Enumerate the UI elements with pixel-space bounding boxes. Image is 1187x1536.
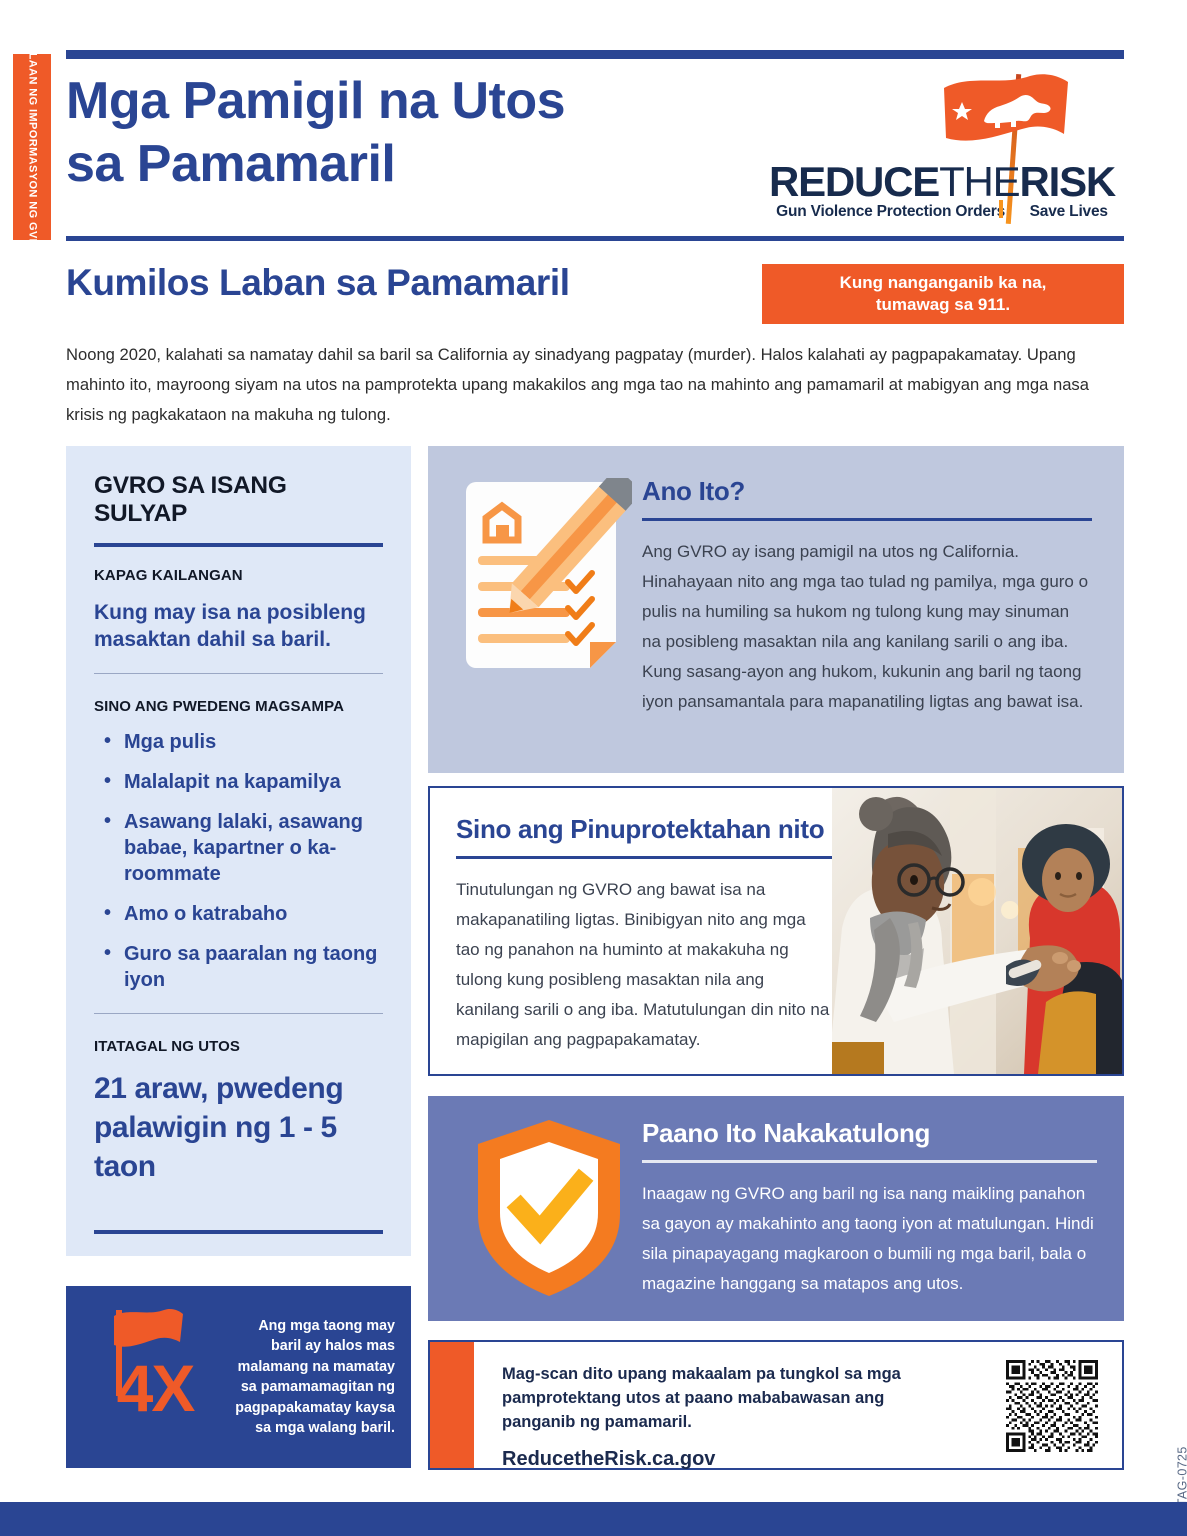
left-panel-bottom-rule — [94, 1230, 383, 1234]
logo-word-the: THE — [939, 158, 1019, 205]
side-tab-text: TALAAN NG IMPORMASYON NG GVRO — [26, 38, 39, 256]
list-item: Malalapit na kapamilya — [94, 769, 383, 795]
who-it-protects-heading: Sino ang Pinuprotektahan nito — [456, 814, 832, 845]
header-top-rule — [66, 50, 1124, 59]
scan-qr-card[interactable]: Mag-scan dito upang makaalam pa tungkol … — [428, 1340, 1124, 1470]
infographic-page: TALAAN NG IMPORMASYON NG GVRO Mga Pamigi… — [0, 0, 1187, 1536]
who-it-protects-rule — [456, 856, 832, 859]
emergency-911-callout: Kung nanganganib ka na, tumawag sa 911. — [762, 264, 1124, 324]
logo-word-risk: RISK — [1020, 158, 1116, 205]
list-item: Guro sa paaralan ng taong iyon — [94, 941, 383, 993]
website-url[interactable]: ReducetheRisk.ca.gov — [502, 1448, 1006, 1471]
how-it-helps-rule — [642, 1160, 1097, 1163]
logo-tagline-left: Gun Violence Protection Orders — [776, 203, 1005, 220]
shield-checkmark-icon — [474, 1118, 624, 1298]
what-is-it-rule — [642, 518, 1092, 521]
checklist-document-icon — [456, 478, 632, 678]
how-it-helps-body: Inaagaw ng GVRO ang baril ng isa nang ma… — [642, 1179, 1097, 1299]
statistic-4x-box: 4X Ang mga taong may baril ay halos mas … — [66, 1286, 411, 1468]
who-it-protects-text-block: Sino ang Pinuprotektahan nito Tinutulung… — [456, 814, 832, 1055]
page-title-line1: Mga Pamigil na Utos — [66, 72, 565, 130]
how-it-helps-text-block: Paano Ito Nakakatulong Inaagaw ng GVRO a… — [642, 1118, 1097, 1299]
who-it-protects-body: Tinutulungan ng GVRO ang bawat isa na ma… — [456, 875, 832, 1055]
reduce-the-risk-logo: REDUCETHERISK Gun Violence Protection Or… — [758, 72, 1126, 224]
photo-two-women-talking — [832, 788, 1122, 1074]
logo-wordmark: REDUCETHERISK — [758, 158, 1126, 206]
what-is-it-text-block: Ano Ito? Ang GVRO ay isang pamigil na ut… — [642, 476, 1092, 717]
statistic-description: Ang mga taong may baril ay halos mas mal… — [226, 1316, 411, 1439]
stat-flag-icon — [112, 1308, 184, 1356]
callout-911-line2: tumawag sa 911. — [876, 295, 1010, 314]
section-subtitle: Kumilos Laban sa Pamamaril — [66, 262, 570, 304]
who-it-protects-card: Sino ang Pinuprotektahan nito Tinutulung… — [428, 786, 1124, 1076]
qr-code[interactable] — [1006, 1360, 1098, 1452]
left-panel-divider-2 — [94, 1013, 383, 1014]
what-is-it-heading: Ano Ito? — [642, 476, 1092, 507]
logo-divider-bar — [999, 200, 1003, 218]
who-can-file-list: Mga pulis Malalapit na kapamilya Asawang… — [94, 729, 383, 993]
callout-911-line1: Kung nanganganib ka na, — [840, 273, 1047, 292]
logo-tagline-right: Save Lives — [1030, 203, 1108, 220]
left-panel-title: GVRO SA ISANG SULYAP — [94, 472, 383, 528]
california-bear-flag-icon — [940, 72, 1070, 158]
scan-card-body: Mag-scan dito upang makaalam pa tungkol … — [474, 1342, 1006, 1468]
header-bottom-rule — [66, 236, 1124, 241]
left-panel-duration-value: 21 araw, pwedeng palawigin ng 1 - 5 taon — [94, 1069, 383, 1186]
left-panel-kicker-duration: ITATAGAL NG UTOS — [94, 1038, 383, 1055]
side-tab-label-strip: TALAAN NG IMPORMASYON NG GVRO — [13, 54, 51, 240]
left-panel-kicker-who-can-file: SINO ANG PWEDENG MAGSAMPA — [94, 698, 383, 715]
left-panel-kicker-when: KAPAG KAILANGAN — [94, 567, 383, 584]
left-panel-when-value: Kung may isa na posibleng masaktan dahil… — [94, 599, 383, 653]
page-title-line2: sa Pamamaril — [66, 135, 395, 193]
footer-bar — [0, 1502, 1187, 1536]
list-item: Mga pulis — [94, 729, 383, 755]
how-it-helps-card: Paano Ito Nakakatulong Inaagaw ng GVRO a… — [428, 1096, 1124, 1321]
scan-card-accent-bar — [430, 1342, 474, 1468]
statistic-number: 4X — [80, 1350, 230, 1426]
what-is-it-body: Ang GVRO ay isang pamigil na utos ng Cal… — [642, 537, 1092, 717]
logo-word-reduce: REDUCE — [769, 158, 939, 205]
list-item: Asawang lalaki, asawang babae, kapartner… — [94, 809, 383, 887]
left-panel-divider-1 — [94, 673, 383, 674]
statistic-graphic: 4X — [66, 1286, 226, 1468]
left-panel-title-rule — [94, 543, 383, 547]
how-it-helps-heading: Paano Ito Nakakatulong — [642, 1118, 1097, 1149]
intro-paragraph: Noong 2020, kalahati sa namatay dahil sa… — [66, 340, 1124, 430]
scan-instruction-text: Mag-scan dito upang makaalam pa tungkol … — [502, 1362, 922, 1434]
list-item: Amo o katrabaho — [94, 901, 383, 927]
page-title: Mga Pamigil na Utos sa Pamamaril — [66, 70, 766, 196]
logo-tagline: Gun Violence Protection Orders Save Live… — [758, 203, 1126, 221]
gvro-at-a-glance-panel: GVRO SA ISANG SULYAP KAPAG KAILANGAN Kun… — [66, 446, 411, 1256]
what-is-it-card: Ano Ito? Ang GVRO ay isang pamigil na ut… — [428, 446, 1124, 773]
